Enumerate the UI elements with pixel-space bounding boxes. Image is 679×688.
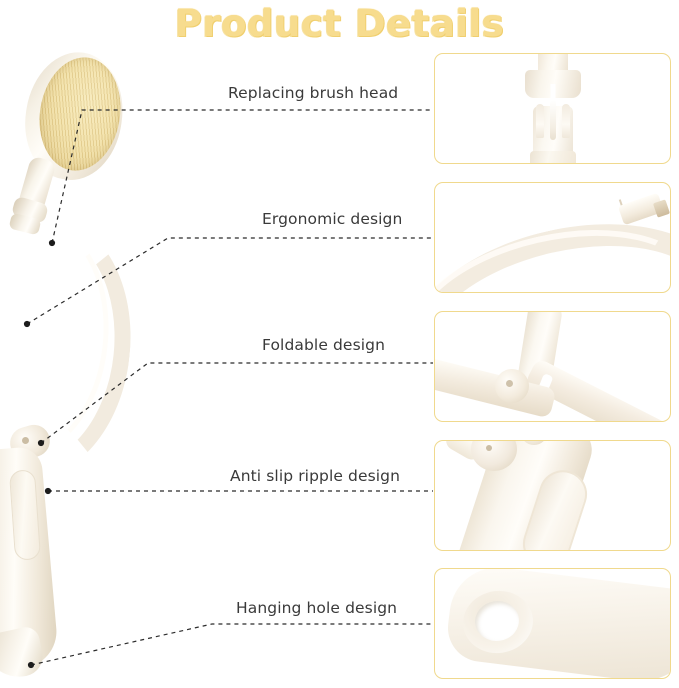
detail-photo-hanging-hole-design <box>434 568 671 679</box>
curved-handle-icon <box>435 183 670 292</box>
product-image <box>0 0 230 688</box>
feature-label-replacing-brush-head: Replacing brush head <box>228 84 398 102</box>
feature-label-anti-slip-ripple-design: Anti slip ripple design <box>230 467 400 485</box>
hinge-pivot-hole <box>22 437 29 444</box>
detail-photo-ergonomic-design <box>434 182 671 293</box>
detail-photo-replacing-brush-head <box>434 53 671 164</box>
feature-label-ergonomic-design: Ergonomic design <box>262 210 402 228</box>
hinge-icon <box>435 312 670 421</box>
feature-label-hanging-hole-design: Hanging hole design <box>236 599 397 617</box>
ripple-grip-icon <box>435 441 670 550</box>
socket-joint-icon <box>435 54 670 163</box>
detail-photo-foldable-design <box>434 311 671 422</box>
hanging-hole-icon <box>435 569 670 678</box>
detail-photo-anti-slip-ripple-design <box>434 440 671 551</box>
feature-label-foldable-design: Foldable design <box>262 336 385 354</box>
